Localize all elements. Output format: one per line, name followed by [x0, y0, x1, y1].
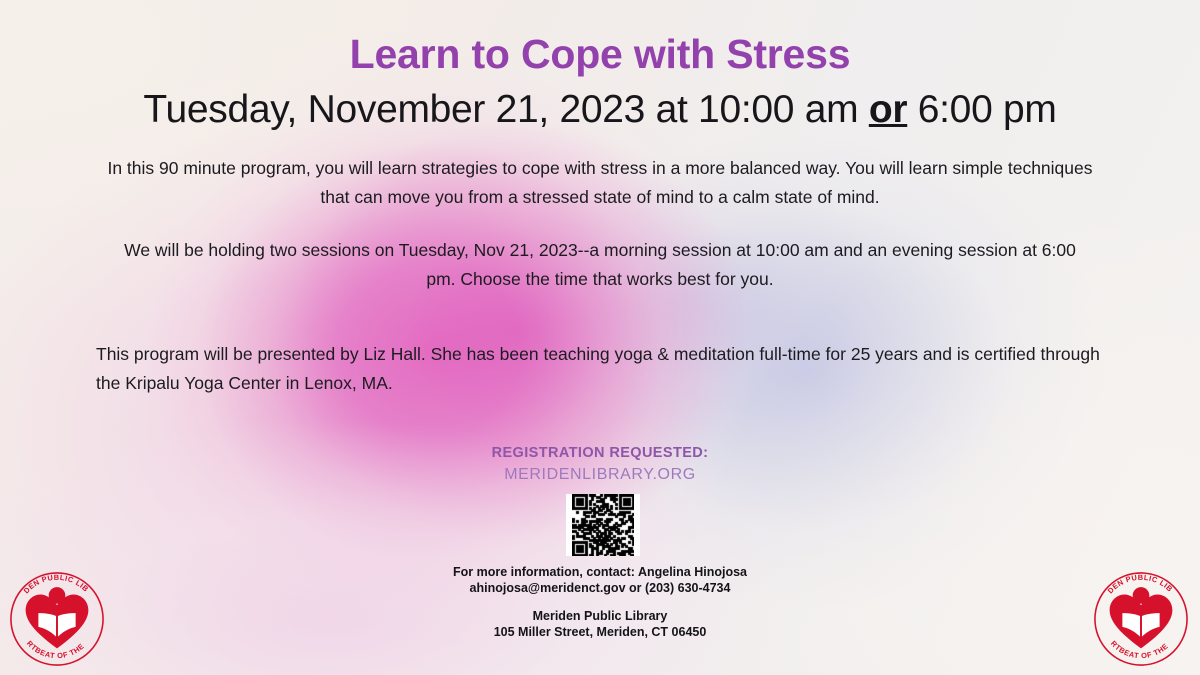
subtitle-text-after: 6:00 pm [907, 88, 1056, 131]
registration-heading: REGISTRATION REQUESTED: [0, 445, 1200, 461]
contact-email-line: ahinojosa@meridenct.gov or (203) 630-473… [0, 581, 1200, 595]
poster-content: Learn to Cope with Stress Tuesday, Novem… [0, 0, 1200, 675]
poster-subtitle: Tuesday, November 21, 2023 at 10:00 am o… [0, 88, 1200, 132]
library-name-line: Meriden Public Library [0, 609, 1200, 623]
poster-canvas: Learn to Cope with Stress Tuesday, Novem… [0, 0, 1200, 675]
poster-title: Learn to Cope with Stress [0, 31, 1200, 78]
presenter-bio-paragraph: This program will be presented by Liz Ha… [96, 340, 1126, 398]
subtitle-emphasis-or: or [869, 88, 907, 131]
library-logo-right: MERIDEN PUBLIC LIBRARYHEARTBEAT OF THE C… [1092, 570, 1190, 668]
library-address-line: 105 Miller Street, Meriden, CT 06450 [0, 625, 1200, 639]
subtitle-text-before: Tuesday, November 21, 2023 at 10:00 am [143, 88, 868, 131]
program-description-paragraph: In this 90 minute program, you will lear… [100, 154, 1100, 212]
qr-code[interactable] [566, 494, 640, 556]
registration-url[interactable]: MERIDENLIBRARY.ORG [0, 466, 1200, 484]
contact-name-line: For more information, contact: Angelina … [0, 565, 1200, 579]
library-logo-left: MERIDEN PUBLIC LIBRARYHEARTBEAT OF THE C… [8, 570, 106, 668]
qr-code-image [572, 494, 634, 556]
session-times-paragraph: We will be holding two sessions on Tuesd… [110, 236, 1090, 294]
